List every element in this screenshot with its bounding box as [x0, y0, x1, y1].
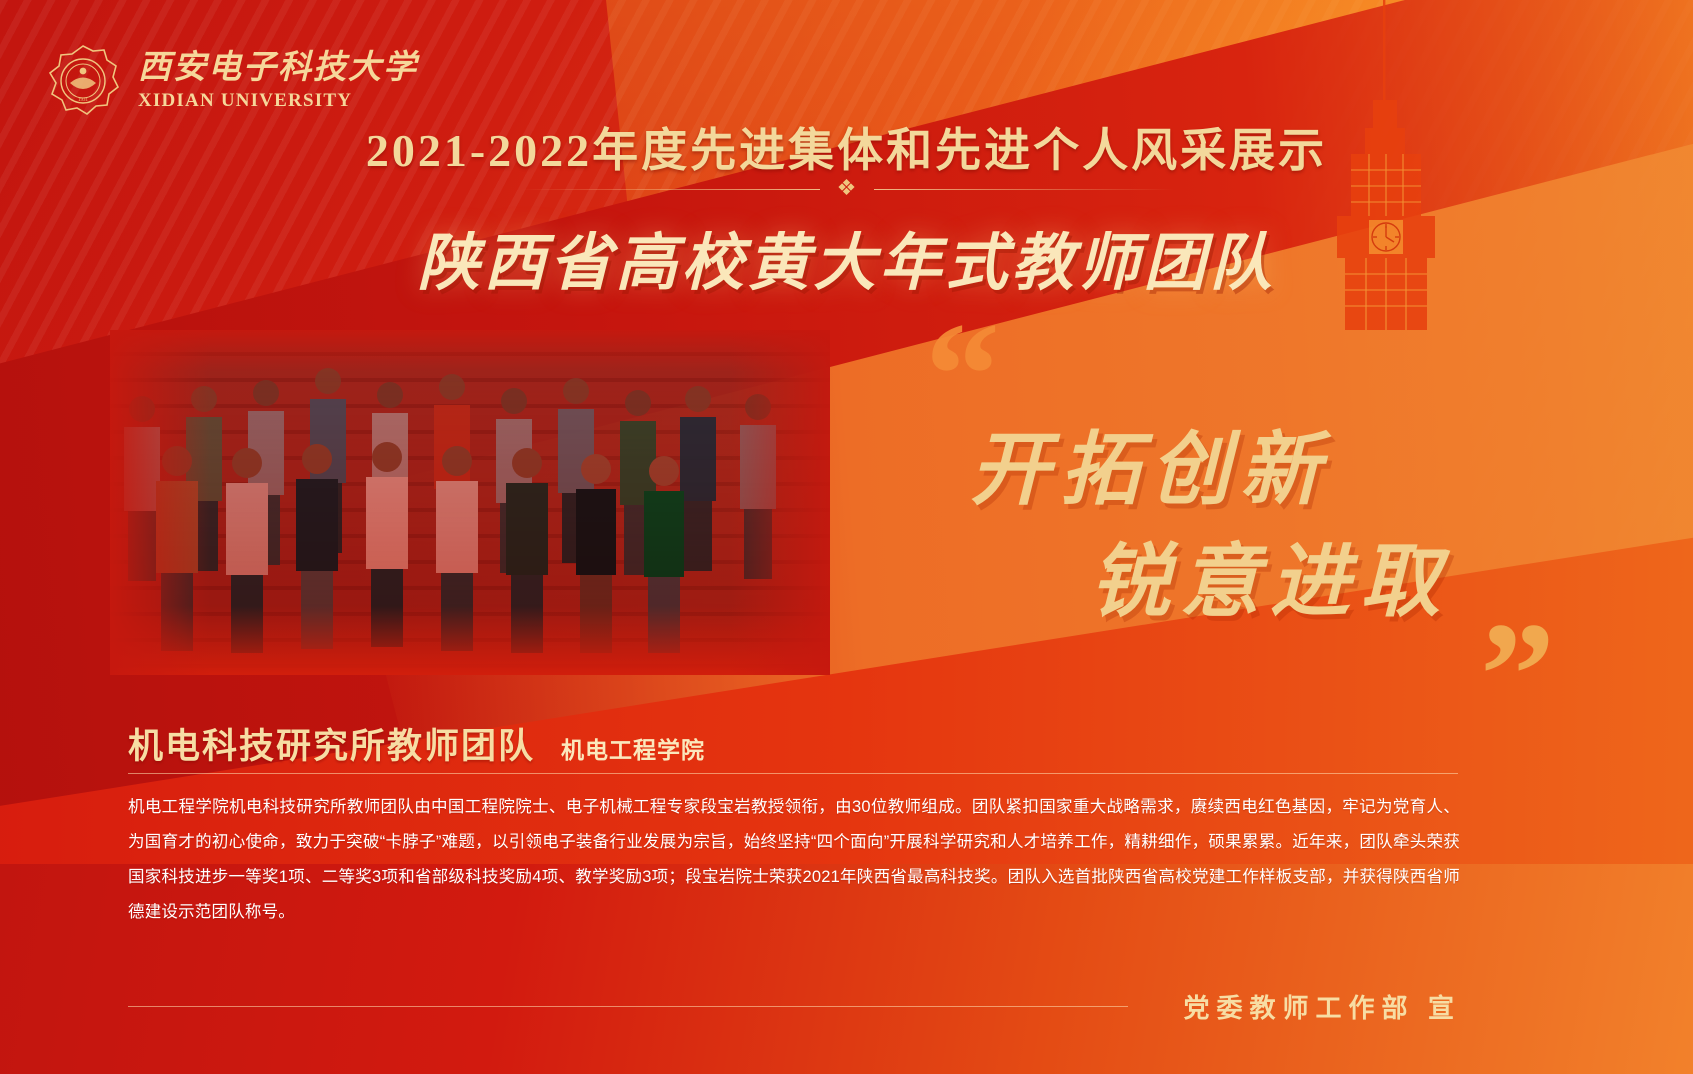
team-description: 机电工程学院机电科技研究所教师团队由中国工程院院士、电子机械工程专家段宝岩教授领… — [128, 790, 1460, 930]
university-logo: 1931 西安电子科技大学 XIDIAN UNIVERSITY — [46, 44, 418, 118]
team-heading: 机电科技研究所教师团队 机电工程学院 — [128, 718, 705, 769]
team-group-photo — [110, 330, 830, 675]
title-divider: ❖ — [0, 176, 1693, 202]
poster-main-title: 2021-2022年度先进集体和先进个人风采展示 — [0, 114, 1693, 180]
university-seal-icon: 1931 — [46, 44, 120, 118]
divider-line-right — [874, 189, 1174, 190]
photo-edge-fade — [110, 330, 830, 675]
logo-name-en: XIDIAN UNIVERSITY — [138, 91, 418, 110]
team-name: 机电科技研究所教师团队 — [128, 718, 535, 769]
footer-rule — [128, 1006, 1128, 1007]
footer-credit: 党委教师工作部 宣 — [1183, 988, 1461, 1025]
heading-rule — [128, 773, 1458, 774]
calligraphy-line-1: 开拓创新 — [970, 405, 1330, 521]
logo-name-cn: 西安电子科技大学 — [138, 52, 418, 85]
ornament-icon: ❖ — [834, 176, 860, 202]
divider-line-left — [520, 189, 820, 190]
poster-subtitle: 陕西省高校黄大年式教师团队 — [0, 212, 1693, 302]
poster-canvas: 1931 西安电子科技大学 XIDIAN UNIVERSITY 2021-202… — [0, 0, 1693, 1074]
team-college: 机电工程学院 — [561, 731, 705, 765]
svg-text:1931: 1931 — [78, 98, 89, 103]
calligraphy-line-2: 锐意进取 — [1090, 517, 1450, 633]
calligraphy-slogan: 开拓创新 锐意进取 — [980, 405, 1540, 635]
